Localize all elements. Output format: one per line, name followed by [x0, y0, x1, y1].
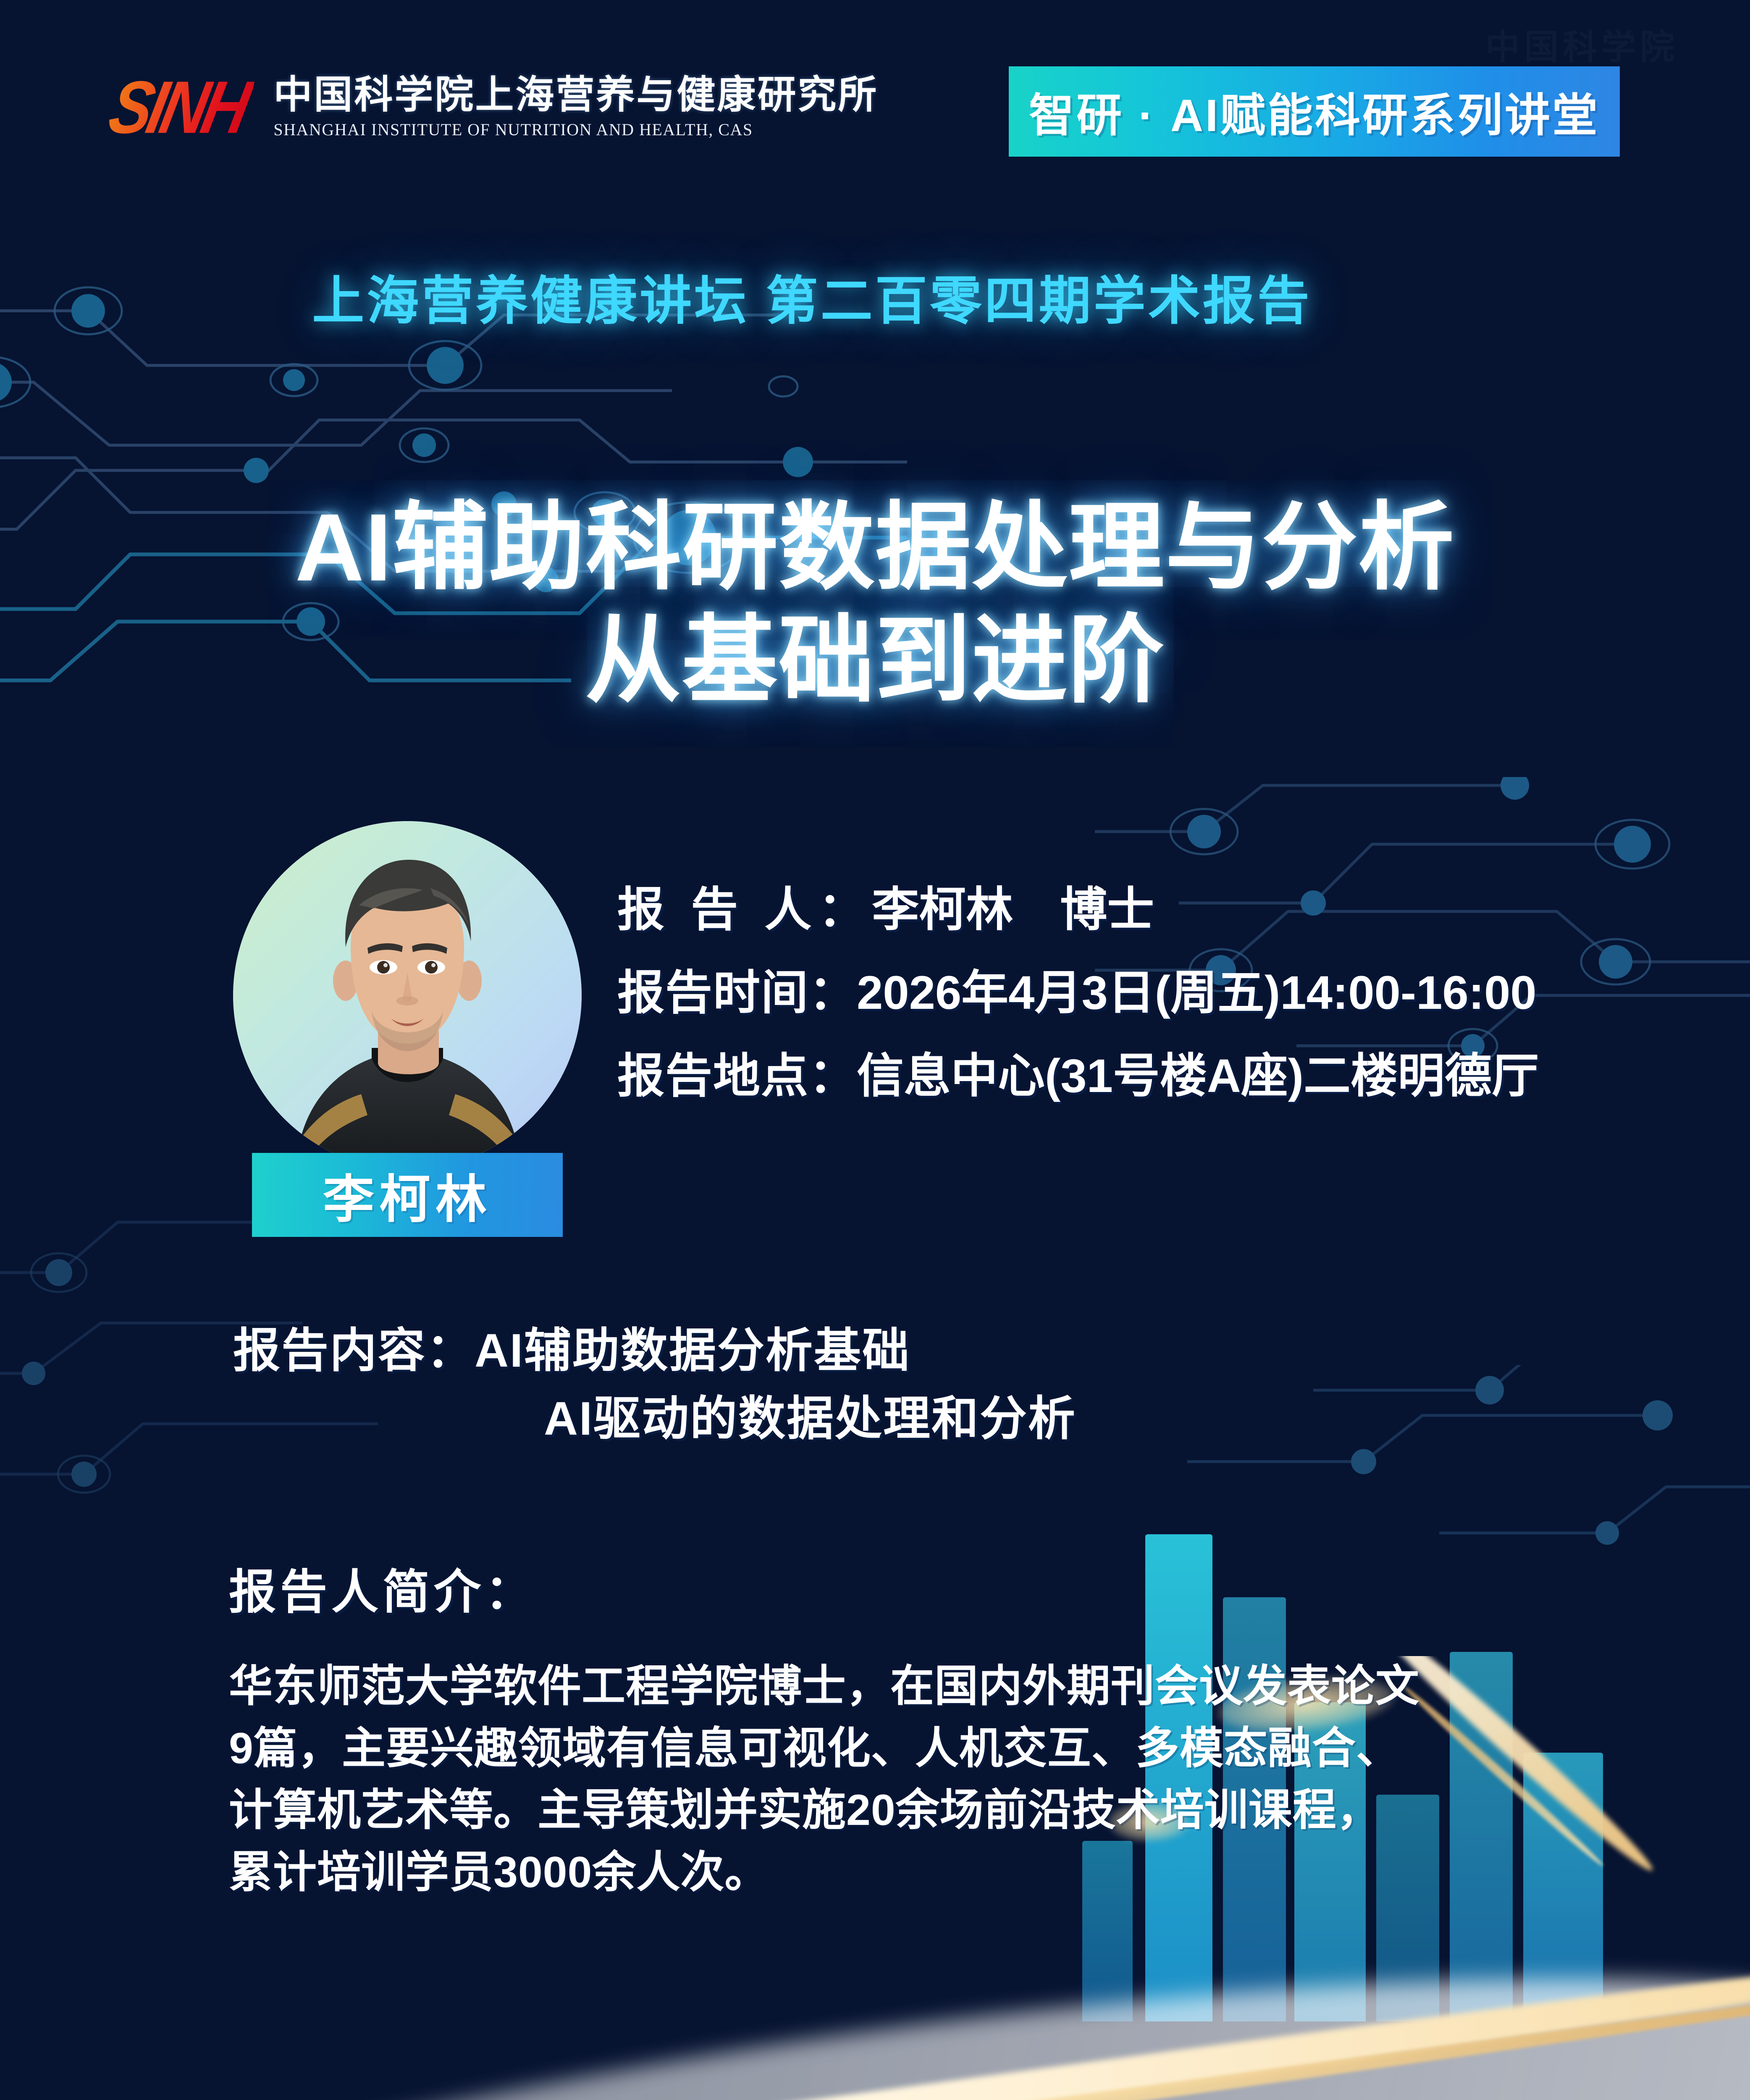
speaker-label: 报 告 人： [617, 883, 872, 936]
content-line-2: AI驱动的数据处理和分析 [233, 1385, 1535, 1453]
poster-footer: 直播微信扫码预约 [0, 2097, 1750, 2100]
forum-subtitle: 上海营养健康讲坛 第二百零四期学术报告 [0, 258, 1750, 334]
bio-line: 累计培训学员3000余人次。 [229, 1842, 1632, 1904]
speaker-name-tag-label: 李柯林 [323, 1158, 492, 1232]
content-item-1: AI辅助数据分析基础 [475, 1324, 910, 1377]
bio-line: 华东师范大学软件工程学院博士，在国内外期刊会议发表论文 [229, 1656, 1632, 1718]
institute-name-cn: 中国科学院上海营养与健康研究所 [273, 75, 878, 115]
series-badge: 智研 · AI赋能科研系列讲堂 [1009, 66, 1620, 157]
speaker-row: 报 告 人：李柯林 博士 [617, 886, 1718, 933]
avatar [233, 821, 582, 1170]
talk-info-block: 报 告 人：李柯林 博士 报告时间：2026年4月3日(周五)14:00-16:… [617, 886, 1718, 1136]
time-label: 报告时间： [617, 966, 857, 1019]
content-label: 报告内容： [233, 1324, 475, 1377]
poster-root: SINH 中国科学院上海营养与健康研究所 SHANGHAI INSTITUTE … [0, 0, 1750, 2100]
content-line-1: 报告内容：AI辅助数据分析基础 [233, 1317, 1535, 1385]
bio-line: 计算机艺术等。主导策划并实施20余场前沿技术培训课程， [229, 1780, 1632, 1842]
speaker-portrait-block: 李柯林 [229, 821, 594, 1254]
bio-line: 9篇，主要兴趣领域有信息可视化、人机交互、多模态融合、 [229, 1718, 1632, 1780]
page-title: AI辅助科研数据处理与分析 从基础到进阶 [0, 491, 1750, 717]
speaker-photo [233, 821, 582, 1170]
series-badge-label: 智研 · AI赋能科研系列讲堂 [1029, 79, 1600, 144]
watermark-text: 中国科学院 [1485, 19, 1679, 69]
content-item-2: AI驱动的数据处理和分析 [544, 1392, 1076, 1445]
speaker-bio-block: 报告人简介： 华东师范大学软件工程学院博士，在国内外期刊会议发表论文 9篇，主要… [229, 1554, 1632, 1904]
time-value: 2026年4月3日(周五)14:00-16:00 [857, 966, 1537, 1019]
speaker-name-tag: 李柯林 [252, 1153, 563, 1237]
forum-subtitle-text: 上海营养健康讲坛 第二百零四期学术报告 [312, 272, 1312, 330]
poster-header: SINH 中国科学院上海营养与健康研究所 SHANGHAI INSTITUTE … [0, 63, 1750, 168]
bio-title: 报告人简介： [229, 1554, 1632, 1622]
place-label: 报告地点： [617, 1050, 857, 1102]
talk-content-block: 报告内容：AI辅助数据分析基础 AI驱动的数据处理和分析 [233, 1317, 1535, 1453]
title-line-1: AI辅助科研数据处理与分析 [0, 491, 1750, 604]
place-value: 信息中心(31号楼A座)二楼明德厅 [857, 1050, 1539, 1102]
institute-name-en: SHANGHAI INSTITUTE OF NUTRITION AND HEAL… [273, 120, 878, 139]
speaker-value: 李柯林 博士 [872, 883, 1154, 936]
institute-name-block: 中国科学院上海营养与健康研究所 SHANGHAI INSTITUTE OF NU… [273, 75, 878, 139]
time-row: 报告时间：2026年4月3日(周五)14:00-16:00 [617, 969, 1718, 1016]
place-row: 报告地点：信息中心(31号楼A座)二楼明德厅 [617, 1053, 1718, 1100]
institute-logo-lockup: SINH 中国科学院上海营养与健康研究所 SHANGHAI INSTITUTE … [111, 75, 878, 139]
sinh-logo-mark: SINH [103, 70, 257, 144]
title-line-2: 从基础到进阶 [0, 604, 1750, 717]
